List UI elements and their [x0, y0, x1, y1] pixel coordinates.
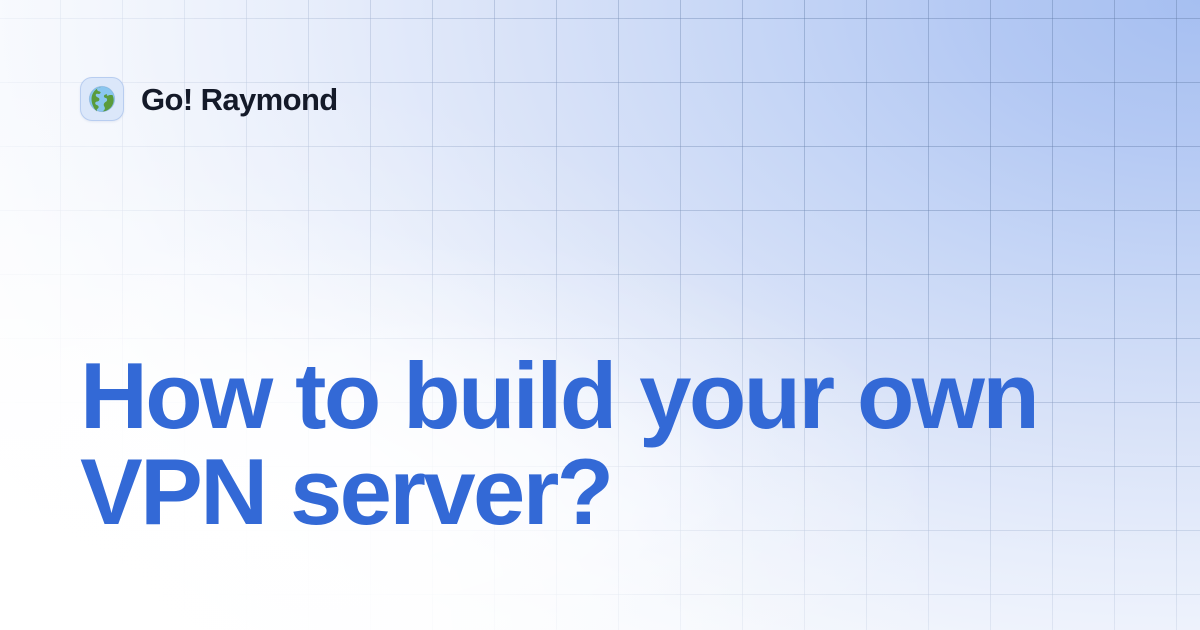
brand-logo-badge [80, 77, 124, 121]
social-card: Go! Raymond How to build your own VPN se… [0, 0, 1200, 630]
brand-name: Go! Raymond [141, 84, 338, 115]
brand-lockup[interactable]: Go! Raymond [80, 77, 338, 121]
card-content: Go! Raymond How to build your own VPN se… [0, 0, 1200, 630]
page-title: How to build your own VPN server? [80, 348, 1120, 540]
globe-americas-icon [88, 85, 116, 113]
